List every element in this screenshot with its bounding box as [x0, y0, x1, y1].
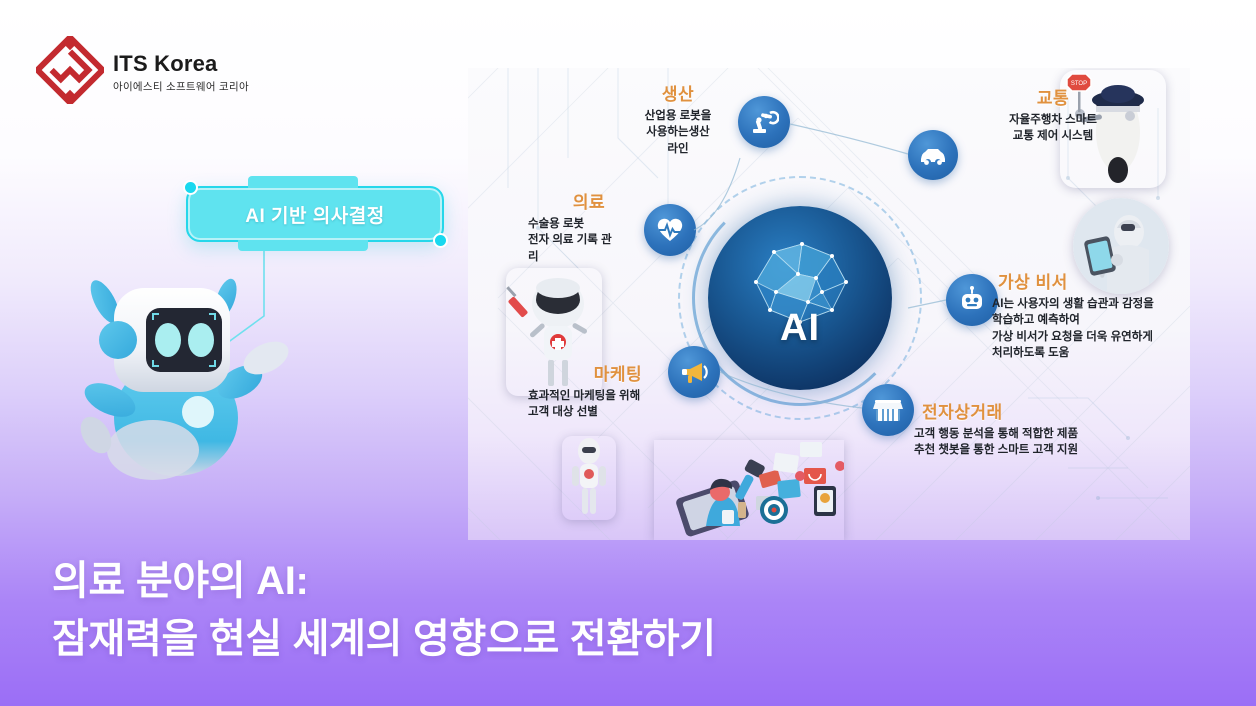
section-virtual-assistant: 가상 비서 AI는 사용자의 생활 습관과 감정을 학습하고 예측하여 가상 비…: [992, 268, 1190, 361]
ai-applications-infographic: AI: [468, 68, 1190, 540]
callout-dot-bottom-right: [435, 235, 446, 246]
page-title: 의료 분야의 AI: 잠재력을 현실 세계의 영향으로 전환하기: [52, 552, 952, 668]
section-transport-body: 자율주행차 스마트 교통 제어 시스템: [958, 112, 1148, 145]
callout-tab-top: [248, 176, 358, 188]
section-production: 생산 산업용 로봇을 사용하는생산 라인: [598, 80, 758, 157]
callout-dot-top-left: [185, 182, 196, 193]
section-marketing-title: 마케팅: [528, 360, 728, 385]
ai-robot-mascot: [58, 250, 308, 490]
section-marketing: 마케팅 효과적인 마케팅을 위해 고객 대상 선별: [528, 360, 728, 421]
section-marketing-body: 효과적인 마케팅을 위해 고객 대상 선별: [528, 388, 728, 421]
section-virtual-assistant-title: 가상 비서: [992, 268, 1190, 293]
section-production-title: 생산: [598, 80, 758, 105]
callout-label: AI 기반 의사결정: [245, 201, 384, 228]
section-medical: 의료 수술용 로봇 전자 의료 기록 관 리: [528, 188, 688, 265]
brand-text: ITS Korea 아이에스티 소프트웨어 코리아: [113, 47, 249, 94]
brand-logo: ITS Korea 아이에스티 소프트웨어 코리아: [36, 36, 249, 104]
ai-decision-callout[interactable]: AI 기반 의사결정: [186, 186, 444, 242]
section-transport-title: 교통: [958, 84, 1148, 109]
small-humanoid-robot-photo: [562, 436, 616, 520]
person-on-phone-shopping-photo: [654, 440, 844, 540]
page-title-line1: 의료 분야의 AI:: [52, 552, 952, 610]
section-ecommerce-title: 전자상거래: [914, 398, 1184, 423]
section-transport: 교통 자율주행차 스마트 교통 제어 시스템: [958, 84, 1148, 145]
section-medical-title: 의료: [528, 188, 688, 213]
section-production-body: 산업용 로봇을 사용하는생산 라인: [598, 108, 758, 157]
section-ecommerce-body: 고객 행동 분석을 통해 적합한 제품 추천 챗봇을 통한 스마트 고객 지원: [914, 426, 1184, 459]
section-virtual-assistant-body: AI는 사용자의 생활 습관과 감정을 학습하고 예측하여 가상 비서가 요청을…: [992, 296, 1190, 361]
its-korea-maze-diamond-logo: [36, 36, 104, 104]
brand-title: ITS Korea: [113, 51, 249, 77]
page-title-line2: 잠재력을 현실 세계의 영향으로 전환하기: [52, 610, 952, 668]
section-ecommerce: 전자상거래 고객 행동 분석을 통해 적합한 제품 추천 챗봇을 통한 스마트 …: [914, 398, 1184, 459]
section-medical-body: 수술용 로봇 전자 의료 기록 관 리: [528, 216, 688, 265]
brand-subtitle: 아이에스티 소프트웨어 코리아: [113, 79, 249, 94]
